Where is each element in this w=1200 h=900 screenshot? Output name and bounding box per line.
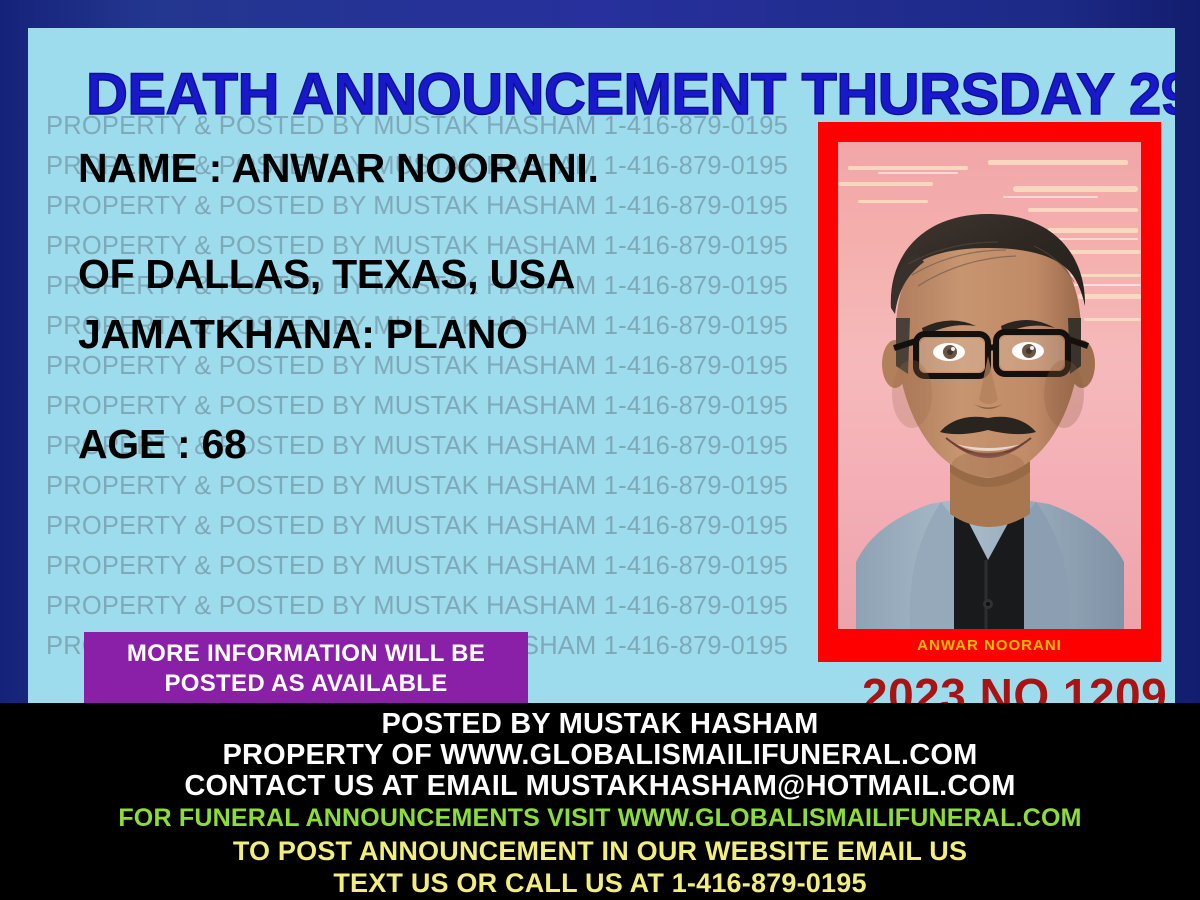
footer-property-of: PROPERTY OF WWW.GLOBALISMAILIFUNERAL.COM xyxy=(0,740,1200,771)
portrait-image xyxy=(838,142,1141,629)
notice-line-2: POSTED AS AVAILABLE xyxy=(164,669,447,699)
page-title: DEATH ANNOUNCEMENT THURSDAY 29-JUN-2023 xyxy=(86,64,1175,126)
footer-contact-email: CONTACT US AT EMAIL MUSTAKHASHAM@HOTMAIL… xyxy=(0,771,1200,802)
footer-website-link[interactable]: FOR FUNERAL ANNOUNCEMENTS VISIT WWW.GLOB… xyxy=(0,802,1200,835)
watermark-line: PROPERTY & POSTED BY MUSTAK HASHAM 1-416… xyxy=(46,546,836,586)
footer-posted-by: POSTED BY MUSTAK HASHAM xyxy=(0,709,1200,740)
deceased-location: OF DALLAS, TEXAS, USA xyxy=(78,250,838,298)
watermark-line: PROPERTY & POSTED BY MUSTAK HASHAM 1-416… xyxy=(46,506,836,546)
portrait-illustration xyxy=(838,142,1141,629)
deceased-jamatkhana: JAMATKHANA: PLANO xyxy=(78,310,838,358)
watermark-line: PROPERTY & POSTED BY MUSTAK HASHAM 1-416… xyxy=(46,466,836,506)
death-announcement-poster: PROPERTY & POSTED BY MUSTAK HASHAM 1-416… xyxy=(0,0,1200,900)
footer-post-announcement: TO POST ANNOUNCEMENT IN OUR WEBSITE EMAI… xyxy=(0,835,1200,867)
portrait-caption: ANWAR NOORANI xyxy=(818,629,1161,662)
deceased-age: AGE : 68 xyxy=(78,420,838,468)
deceased-name: NAME : ANWAR NOORANI. xyxy=(78,144,838,192)
portrait-card: ANWAR NOORANI xyxy=(818,122,1161,662)
footer-phone-number: TEXT US OR CALL US AT 1-416-879-0195 xyxy=(0,867,1200,899)
more-information-notice: MORE INFORMATION WILL BE POSTED AS AVAIL… xyxy=(84,632,528,703)
footer-contact-block: POSTED BY MUSTAK HASHAM PROPERTY OF WWW.… xyxy=(0,703,1200,900)
content-panel: PROPERTY & POSTED BY MUSTAK HASHAM 1-416… xyxy=(28,28,1175,703)
record-number: 2023 NO.1209 xyxy=(862,668,1167,703)
deceased-info-block: NAME : ANWAR NOORANI. OF DALLAS, TEXAS, … xyxy=(78,144,838,468)
watermark-line: PROPERTY & POSTED BY MUSTAK HASHAM 1-416… xyxy=(46,586,836,626)
notice-line-1: MORE INFORMATION WILL BE xyxy=(127,639,485,669)
